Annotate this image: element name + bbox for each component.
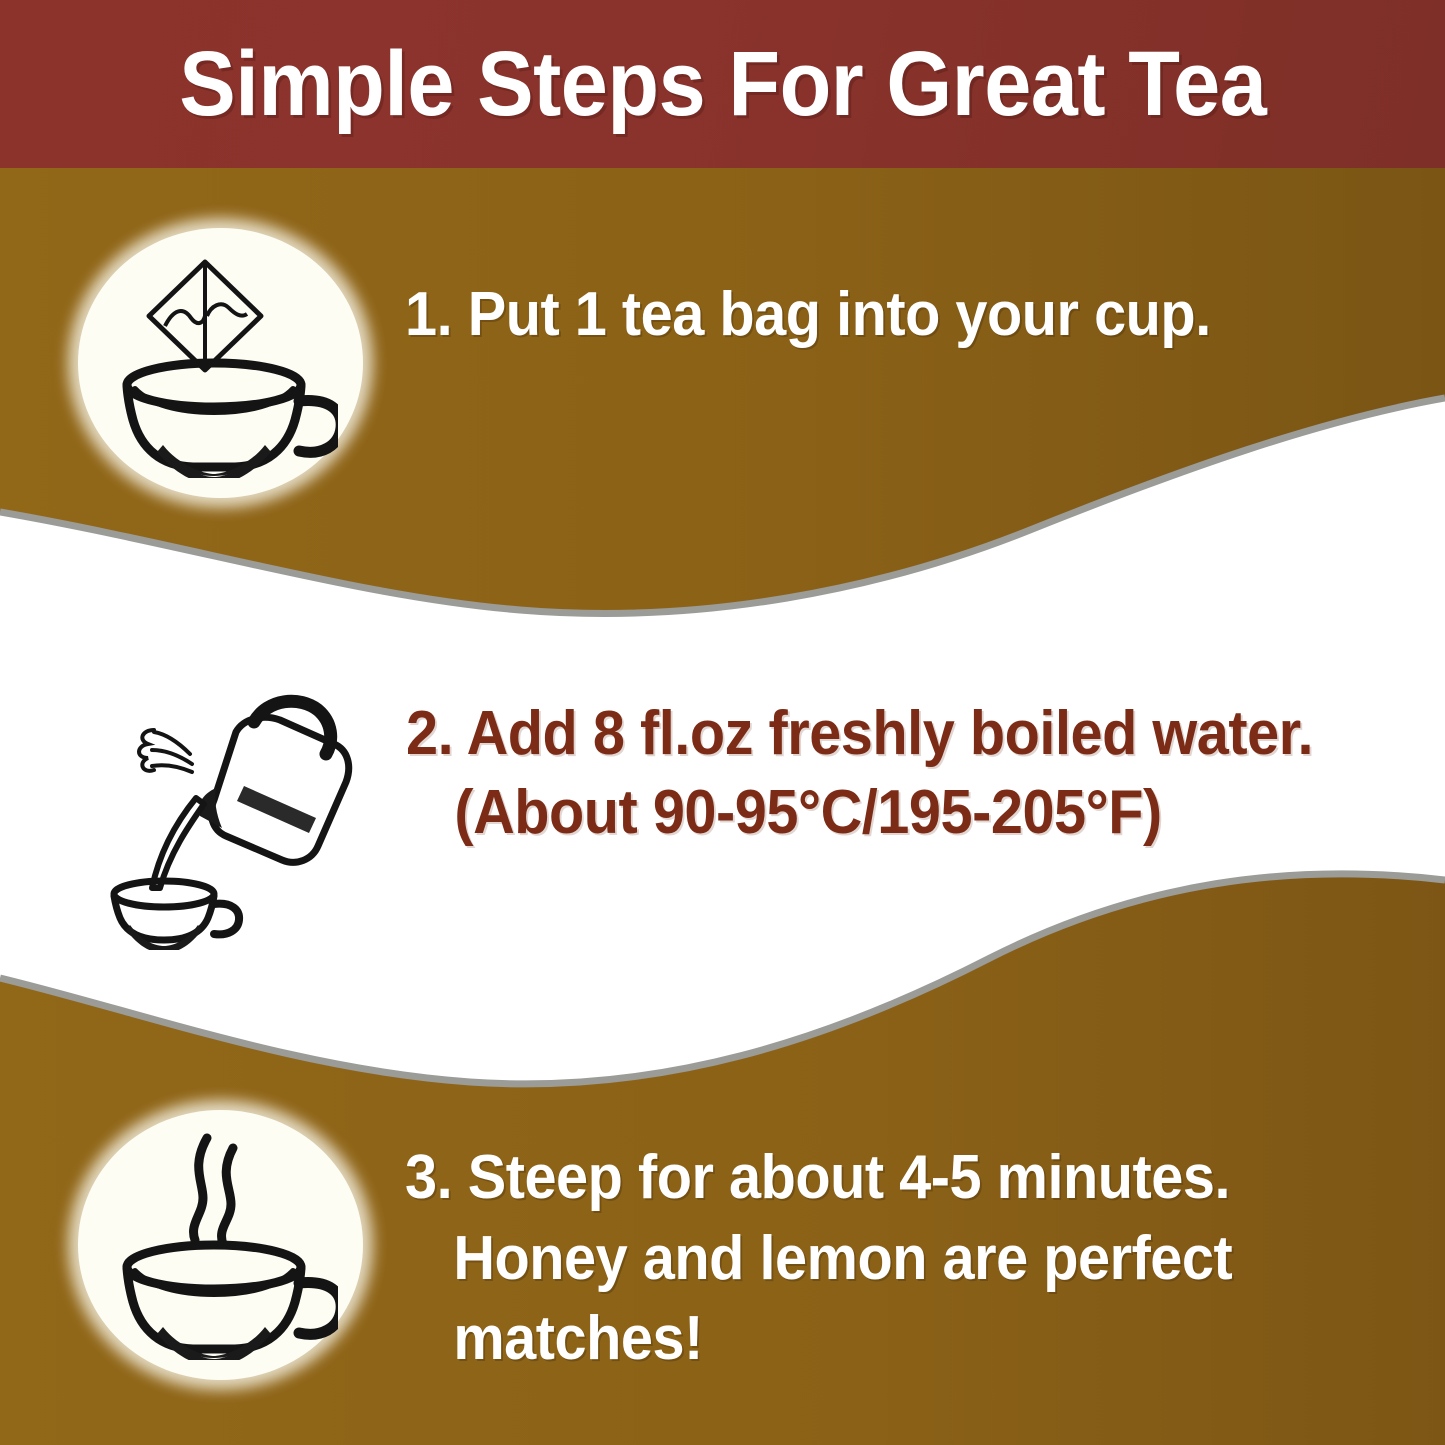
step-1: 1. Put 1 tea bag into your cup. bbox=[78, 228, 1438, 498]
step-3-line-3: matches! bbox=[405, 1299, 1232, 1380]
step-2-line-2: (About 90-95°C/195-205°F) bbox=[406, 773, 1313, 852]
kettle-pouring-into-cup-icon bbox=[96, 686, 376, 956]
step-1-text: 1. Put 1 tea bag into your cup. bbox=[405, 278, 1211, 351]
step-3: 3. Steep for about 4-5 minutes. Honey an… bbox=[78, 1110, 1445, 1380]
header-banner: Simple Steps For Great Tea bbox=[0, 0, 1445, 168]
teabag-into-cup-glyph bbox=[103, 248, 338, 478]
steaming-cup-glyph bbox=[103, 1130, 338, 1360]
step-1-icon-wrapper bbox=[78, 228, 363, 498]
teabag-into-cup-icon bbox=[78, 228, 363, 498]
step-2-line-1: 2. Add 8 fl.oz freshly boiled water. bbox=[406, 694, 1313, 773]
water-stream bbox=[152, 798, 204, 888]
page-title: Simple Steps For Great Tea bbox=[179, 38, 1266, 130]
step-3-text: 3. Steep for about 4-5 minutes. Honey an… bbox=[405, 1138, 1232, 1380]
step-3-line-2: Honey and lemon are perfect bbox=[405, 1219, 1232, 1300]
kettle-pour-glyph bbox=[104, 692, 369, 950]
step-2-text: 2. Add 8 fl.oz freshly boiled water. (Ab… bbox=[406, 694, 1313, 853]
step-3-icon-wrapper bbox=[78, 1110, 363, 1380]
step-1-line-1: 1. Put 1 tea bag into your cup. bbox=[405, 278, 1211, 351]
step-2-icon-wrapper bbox=[96, 686, 376, 956]
step-2: 2. Add 8 fl.oz freshly boiled water. (Ab… bbox=[96, 686, 1445, 956]
step-3-line-1: 3. Steep for about 4-5 minutes. bbox=[405, 1138, 1232, 1219]
tea-brewing-infographic: Simple Steps For Great Tea bbox=[0, 0, 1445, 1445]
steaming-cup-icon bbox=[78, 1110, 363, 1380]
